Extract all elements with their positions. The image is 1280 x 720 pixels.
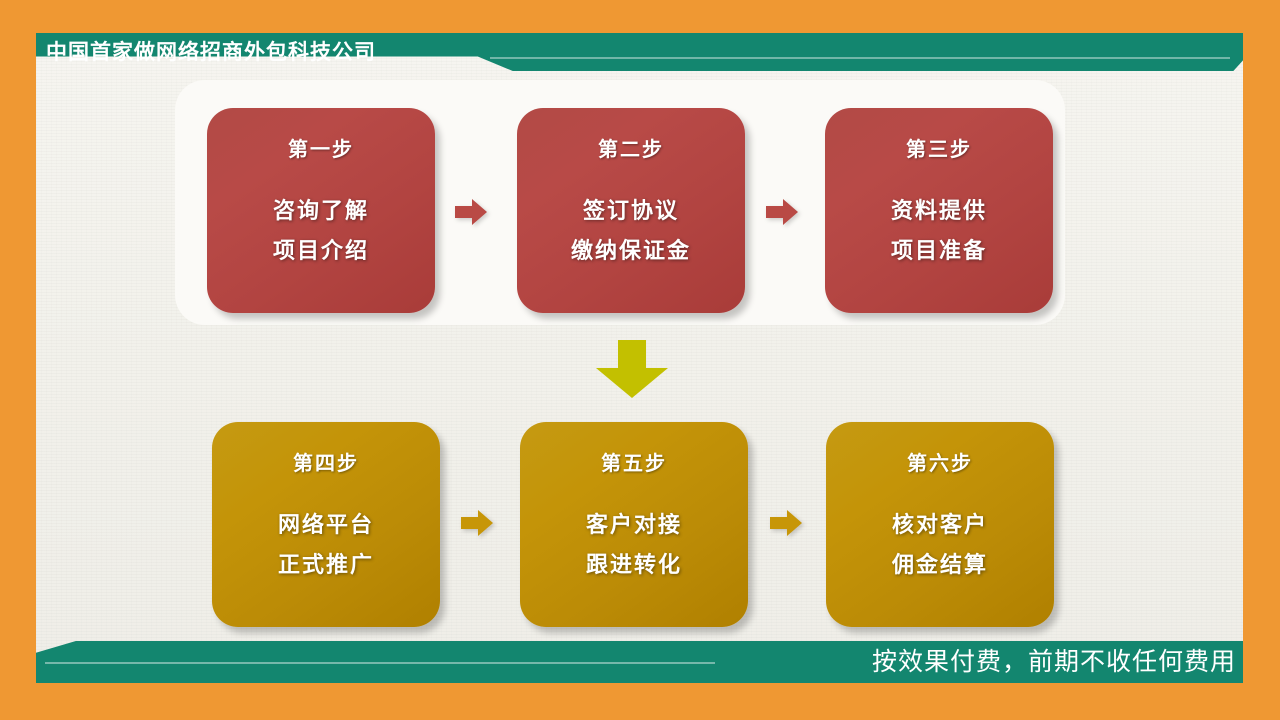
step-card-1-body: 咨询了解 项目介绍 (273, 192, 369, 271)
slide-root: 中国首家做网络招商外包科技公司 第一步 咨询了解 项目介绍 第二步 签订协议 缴… (0, 0, 1280, 720)
step-card-2[interactable]: 第二步 签订协议 缴纳保证金 (517, 108, 745, 313)
step-card-3-line2: 项目准备 (891, 232, 987, 272)
step-card-6-line2: 佣金结算 (892, 546, 988, 586)
step-card-2-line1: 签订协议 (571, 192, 691, 232)
step-card-5[interactable]: 第五步 客户对接 跟进转化 (520, 422, 748, 627)
footer-hairline-divider (45, 662, 715, 664)
step-card-5-body: 客户对接 跟进转化 (586, 506, 682, 585)
step-card-6-line1: 核对客户 (892, 506, 988, 546)
step-card-1-line1: 咨询了解 (273, 192, 369, 232)
arrow-right-icon-1 (453, 197, 489, 227)
footer-tagline: 按效果付费，前期不收任何费用 (872, 643, 1236, 681)
step-card-1[interactable]: 第一步 咨询了解 项目介绍 (207, 108, 435, 313)
step-card-4[interactable]: 第四步 网络平台 正式推广 (212, 422, 440, 627)
arrow-right-icon-4 (768, 508, 804, 538)
step-card-4-title: 第四步 (293, 447, 359, 476)
step-card-4-line2: 正式推广 (278, 546, 374, 586)
step-card-1-title: 第一步 (288, 133, 354, 162)
page-title: 中国首家做网络招商外包科技公司 (46, 34, 376, 70)
step-card-1-line2: 项目介绍 (273, 232, 369, 272)
step-card-5-line2: 跟进转化 (586, 546, 682, 586)
step-card-2-body: 签订协议 缴纳保证金 (571, 192, 691, 271)
arrow-right-icon-3 (459, 508, 495, 538)
step-card-2-title: 第二步 (598, 133, 664, 162)
step-card-6[interactable]: 第六步 核对客户 佣金结算 (826, 422, 1054, 627)
step-card-2-line2: 缴纳保证金 (571, 232, 691, 272)
arrow-down-icon (592, 338, 672, 400)
step-card-3[interactable]: 第三步 资料提供 项目准备 (825, 108, 1053, 313)
step-card-3-line1: 资料提供 (891, 192, 987, 232)
step-card-6-body: 核对客户 佣金结算 (892, 506, 988, 585)
arrow-right-icon-2 (764, 197, 800, 227)
step-card-4-line1: 网络平台 (278, 506, 374, 546)
step-card-3-title: 第三步 (906, 133, 972, 162)
header-hairline-divider (490, 57, 1230, 59)
step-card-5-line1: 客户对接 (586, 506, 682, 546)
step-card-4-body: 网络平台 正式推广 (278, 506, 374, 585)
step-card-3-body: 资料提供 项目准备 (891, 192, 987, 271)
step-card-5-title: 第五步 (601, 447, 667, 476)
step-card-6-title: 第六步 (907, 447, 973, 476)
